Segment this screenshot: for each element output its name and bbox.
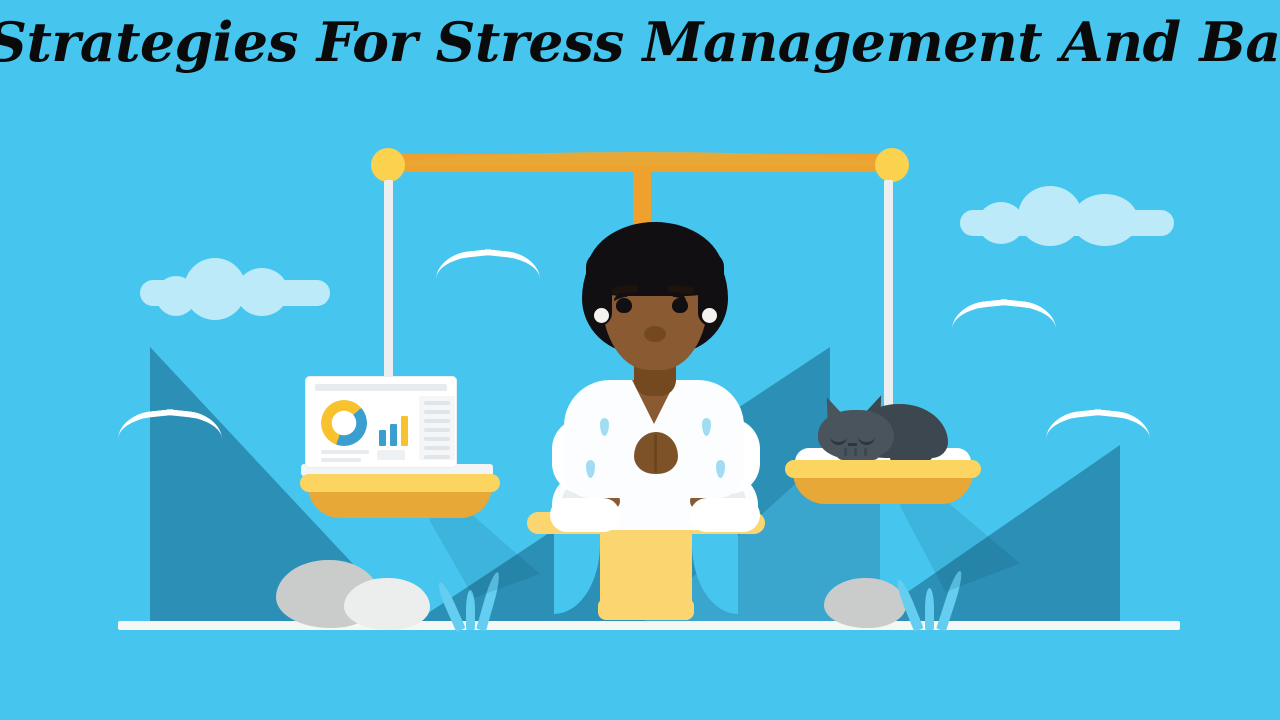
bar-chart bbox=[379, 412, 413, 446]
donut-chart bbox=[321, 400, 367, 446]
ground-line bbox=[118, 621, 1180, 630]
ground-band bbox=[0, 630, 1280, 720]
laptop-text-lines bbox=[321, 450, 369, 466]
meditating-woman bbox=[540, 222, 770, 532]
scale-pivot-stem bbox=[633, 168, 651, 228]
laptop-screen bbox=[305, 376, 457, 468]
scale-pan-left bbox=[300, 474, 500, 522]
scale-knob-right bbox=[875, 148, 909, 182]
laptop-topbar bbox=[315, 384, 447, 391]
scale-pan-right-rim bbox=[785, 460, 981, 478]
woman-knee-right bbox=[690, 498, 760, 532]
cat-eye-right bbox=[858, 434, 875, 445]
scale-pan-right bbox=[785, 460, 981, 508]
cat-paw bbox=[836, 446, 880, 460]
woman-earring-left bbox=[594, 308, 609, 323]
woman-knee-left bbox=[550, 498, 620, 532]
scale-knob-left bbox=[371, 148, 405, 182]
page-title: Strategies For Stress Management And Bal… bbox=[0, 14, 1280, 71]
cloud-right bbox=[960, 186, 1174, 236]
laptop-chip bbox=[377, 450, 405, 460]
scale-rope-left bbox=[384, 180, 393, 378]
rock-right bbox=[824, 578, 906, 628]
laptop-side-panel bbox=[419, 396, 455, 460]
sleeping-cat bbox=[818, 398, 948, 460]
woman-earring-right bbox=[702, 308, 717, 323]
woman-hands-prayer bbox=[634, 432, 678, 474]
scale-pan-left-rim bbox=[300, 474, 500, 492]
rock-small-left bbox=[344, 578, 430, 630]
cat-eye-left bbox=[830, 434, 847, 445]
pedestal-foot bbox=[598, 598, 694, 620]
scale-rope-right bbox=[884, 180, 893, 412]
illustration-canvas: Strategies For Stress Management And Bal… bbox=[0, 0, 1280, 720]
cloud-left bbox=[140, 258, 330, 306]
woman-mouth bbox=[644, 326, 666, 342]
laptop-dashboard bbox=[301, 376, 501, 480]
